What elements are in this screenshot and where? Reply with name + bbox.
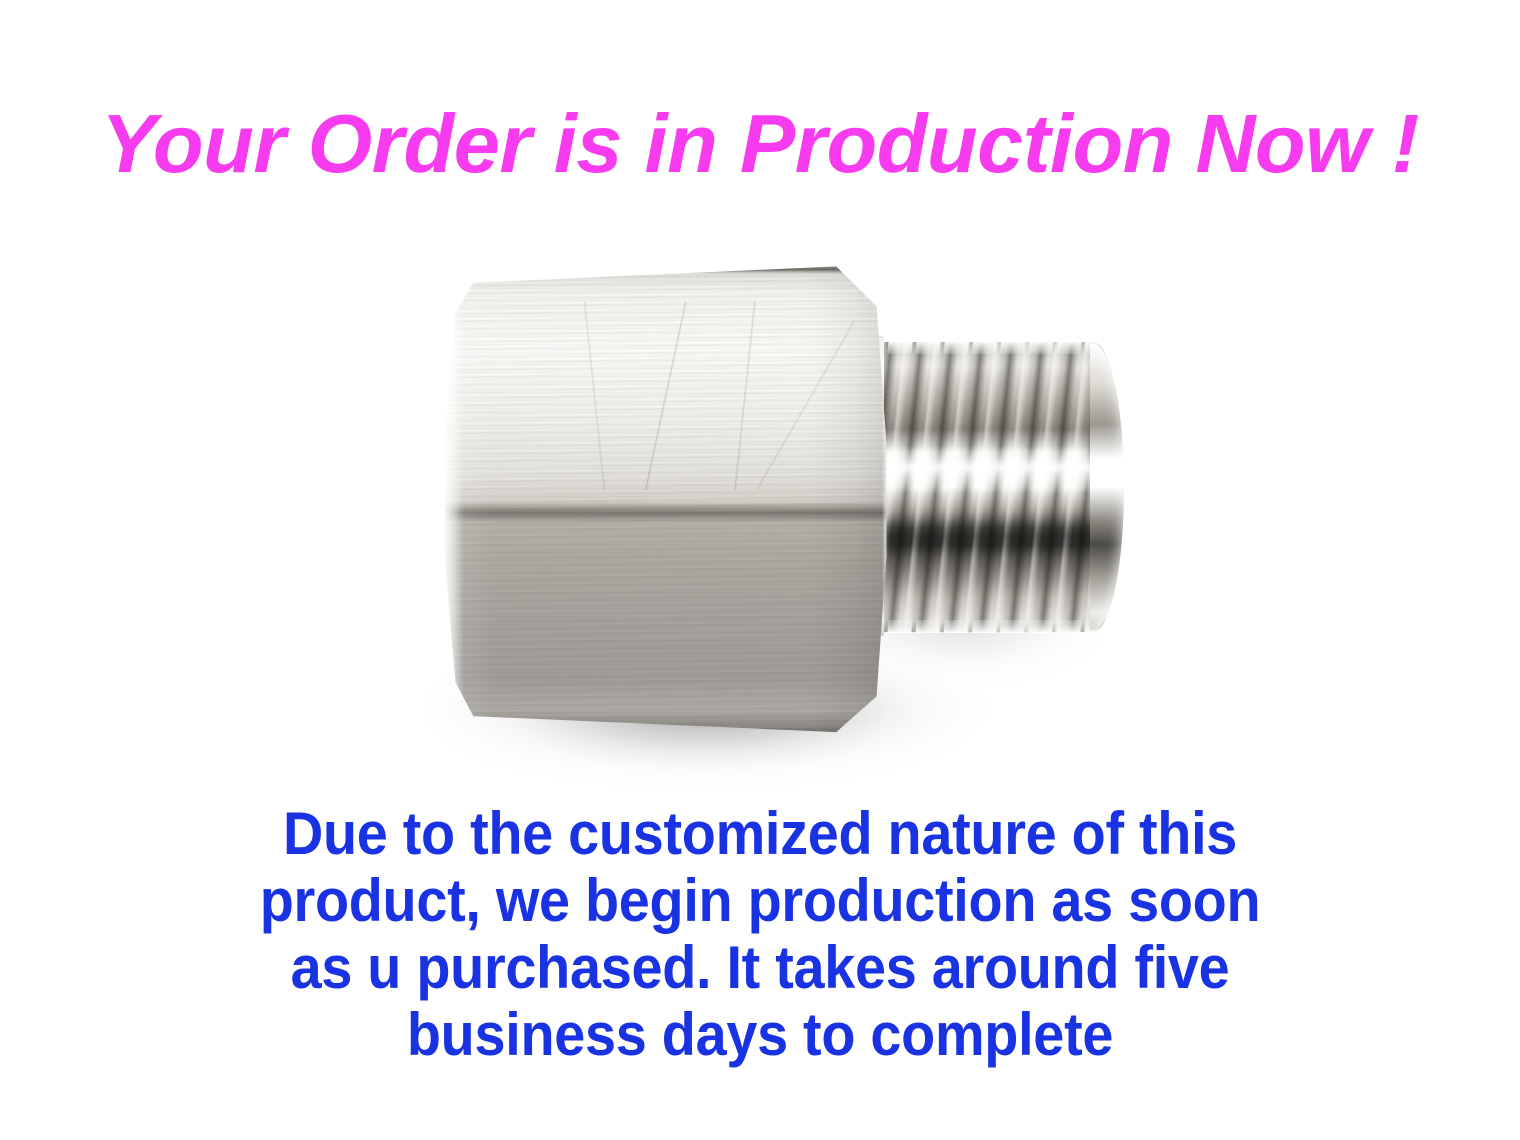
thread-crest-top	[870, 341, 1124, 354]
notice-line-3: as u purchased. It takes around five	[53, 934, 1467, 1001]
notice-line-2: product, we begin production as soon	[53, 867, 1467, 934]
thread-specular-band	[872, 446, 1122, 492]
thread-cylinder	[872, 342, 1122, 632]
thread-shadow-band	[872, 516, 1122, 557]
notice-line-4: business days to complete	[53, 1001, 1467, 1068]
promo-image-canvas: Your Order is in Production Now !	[0, 0, 1520, 1140]
hex-body	[442, 264, 890, 734]
production-notice-text: Due to the customized nature of this pro…	[53, 800, 1467, 1068]
thread-crest-bottom	[870, 620, 1124, 633]
male-threaded-nipple	[872, 342, 1122, 632]
product-photo	[380, 230, 1170, 790]
hex-left-chamfer	[442, 292, 464, 706]
page-title: Your Order is in Production Now !	[0, 96, 1520, 192]
hex-corner-shading	[442, 264, 890, 734]
notice-line-1: Due to the customized nature of this	[53, 800, 1467, 867]
